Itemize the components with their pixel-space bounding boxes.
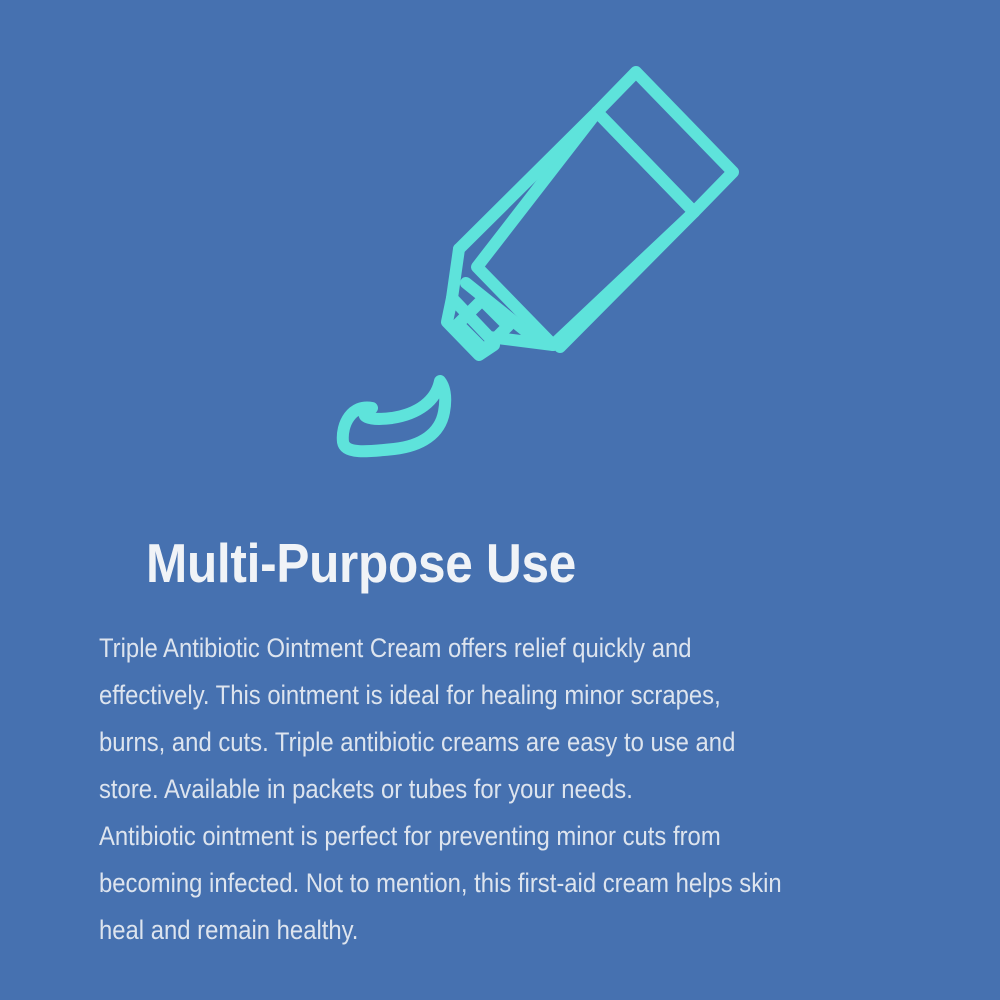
body-copy: Triple Antibiotic Ointment Cream offers … [99,625,929,954]
body-line: burns, and cuts. Triple antibiotic cream… [99,719,846,766]
tube-shoulder-right-edge [560,212,694,347]
body-line: store. Available in packets or tubes for… [99,766,846,813]
tube-shoulder-left-edge [459,112,597,249]
cream-dab [343,381,445,451]
page-title: Multi-Purpose Use [146,532,576,594]
tube-body [477,112,694,345]
body-line: Antibiotic ointment is perfect for preve… [99,813,846,860]
body-line: heal and remain healthy. [99,907,846,954]
tube-crimped-top [597,72,733,212]
ointment-tube-illustration [0,0,1000,510]
body-line: Triple Antibiotic Ointment Cream offers … [99,625,846,672]
body-line: becoming infected. Not to mention, this … [99,860,846,907]
feature-card: Multi-Purpose Use Triple Antibiotic Oint… [0,0,1000,1000]
body-line: effectively. This ointment is ideal for … [99,672,846,719]
